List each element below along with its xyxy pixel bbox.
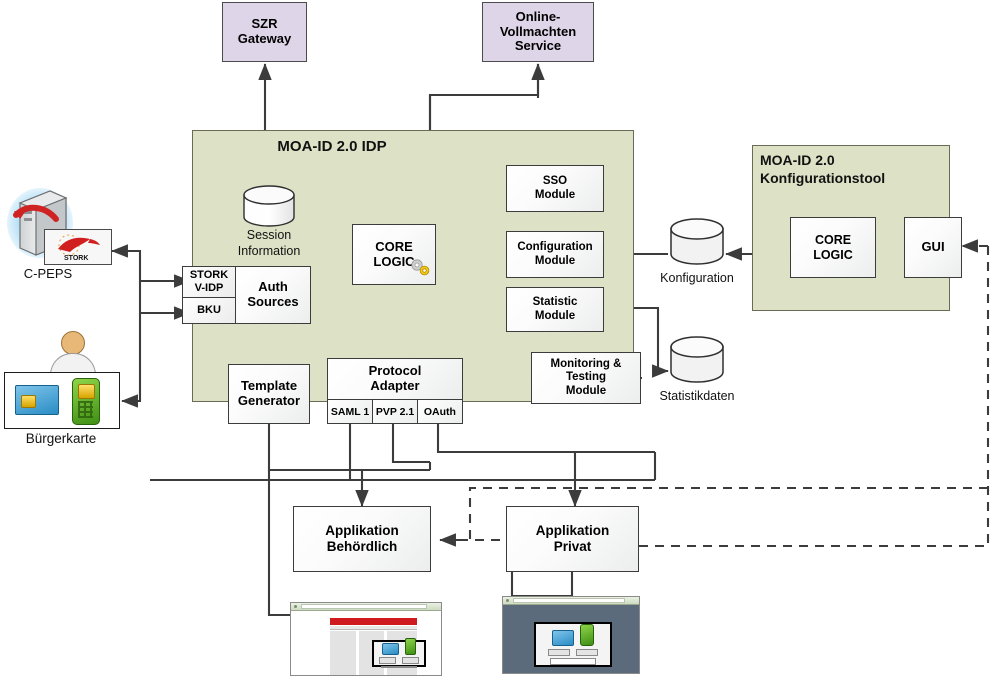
session-information-label: Session Information [209, 228, 329, 259]
page-navbar [330, 626, 417, 630]
module-monitoring-testing[interactable]: Monitoring & Testing Module [531, 352, 641, 404]
konfiguration-datastore-label: Konfiguration [640, 271, 754, 285]
smartcard-chip [21, 395, 36, 408]
dialog-checkbox-vertretung[interactable] [550, 658, 596, 665]
dialog-icon-row [552, 624, 594, 646]
smartcard-icon [382, 643, 399, 655]
vollmachten-label-line1: Online- [500, 10, 576, 25]
browser-url-bar[interactable] [513, 598, 625, 603]
mobile-phone-icon [72, 378, 100, 425]
monitoring-label-line1: Monitoring & [551, 358, 622, 371]
bku-selection-dialog[interactable] [372, 640, 426, 667]
phone-chip [78, 384, 95, 399]
browser-dot [294, 605, 297, 608]
application-privat[interactable]: Applikation Privat [506, 506, 639, 572]
gears-icon [409, 257, 431, 281]
app-behoerdlich-line2: Behördlich [325, 539, 399, 555]
vollmachten-label-line2: Vollmachten [500, 25, 576, 40]
smartcard-icon [552, 630, 574, 646]
database-cylinder-icon-session [241, 185, 297, 227]
module-statistic[interactable]: Statistic Module [506, 287, 604, 332]
browser-titlebar [503, 597, 639, 605]
app-privat-line2: Privat [536, 539, 610, 555]
statistic-label-line1: Statistic [533, 296, 578, 309]
template-generator-line1: Template [238, 379, 300, 394]
szr-gateway-label-line1: SZR [238, 17, 291, 32]
konfig-core-logic-line1: CORE [813, 233, 853, 247]
configuration-label-line2: Module [517, 255, 592, 268]
dialog-checkbox-row[interactable] [381, 666, 417, 668]
module-core-logic-idp[interactable]: CORE LOGIC [352, 224, 436, 285]
auth-source-stork-vidp[interactable]: STORK V-IDP [182, 266, 236, 298]
module-protocol-adapter[interactable]: Protocol Adapter [327, 358, 463, 400]
app-behoerdlich-line1: Applikation [325, 523, 399, 539]
statistic-label-line2: Module [533, 310, 578, 323]
bku-selection-dialog[interactable] [534, 622, 611, 667]
browser-window-screenshot-privat[interactable] [502, 596, 640, 674]
application-behoerdlich[interactable]: Applikation Behördlich [293, 506, 431, 572]
mobile-phone-icon [405, 638, 416, 655]
vollmachten-label-line3: Service [500, 39, 576, 54]
auth-sources-line2: Sources [247, 295, 298, 310]
app-privat-line1: Applikation [536, 523, 610, 539]
dialog-button-row[interactable] [548, 649, 598, 656]
protocol-adapter-cells: SAML 1 PVP 2.1 OAuth [327, 399, 463, 424]
sso-label-line1: SSO [535, 175, 575, 188]
protocol-cell-pvp21[interactable]: PVP 2.1 [372, 399, 418, 424]
monitoring-label-line2: Testing [551, 371, 622, 384]
browser-page-content [291, 611, 441, 676]
statistikdaten-datastore-label: Statistikdaten [634, 389, 760, 403]
bku-line1: BKU [197, 304, 221, 317]
page-col-left [330, 631, 356, 676]
page-header-banner [330, 618, 417, 624]
konfigtool-title-l2: Konfigurationstool [760, 169, 950, 187]
person-head [61, 331, 85, 355]
mobile-phone-icon [580, 624, 594, 646]
konfig-core-logic-line2: LOGIC [813, 248, 853, 262]
protocol-cell-saml1[interactable]: SAML 1 [327, 399, 373, 424]
dialog-handy-button[interactable] [576, 649, 598, 656]
stork-vidp-line2: V-IDP [190, 282, 228, 295]
szr-gateway-label-line2: Gateway [238, 32, 291, 47]
module-auth-sources[interactable]: Auth Sources [235, 266, 311, 324]
dialog-karte-button[interactable] [548, 649, 570, 656]
buergerkarte-label: Bürgerkarte [4, 431, 118, 446]
module-configuration[interactable]: Configuration Module [506, 231, 604, 278]
diagram-canvas: SZR Gateway Online- Vollmachten Service … [0, 0, 1000, 678]
smartcard-icon [15, 385, 59, 415]
svg-text:STORK: STORK [64, 255, 88, 262]
module-template-generator[interactable]: Template Generator [228, 364, 310, 424]
browser-page-content [503, 605, 639, 674]
region-konfigurationstool-title: MOA-ID 2.0 Konfigurationstool [760, 151, 950, 187]
module-sso[interactable]: SSO Module [506, 165, 604, 212]
database-cylinder-icon-konfiguration [668, 218, 726, 268]
gui-label: GUI [921, 240, 944, 255]
dialog-handy-button[interactable] [402, 657, 419, 664]
session-label-l2: Information [209, 244, 329, 260]
browser-url-bar[interactable] [301, 604, 427, 609]
module-gui[interactable]: GUI [904, 217, 962, 278]
protocol-cell-oauth[interactable]: OAuth [417, 399, 463, 424]
monitoring-label-line3: Module [551, 385, 622, 398]
sso-label-line2: Module [535, 189, 575, 202]
external-service-szr-gateway[interactable]: SZR Gateway [222, 2, 307, 62]
auth-source-bku[interactable]: BKU [182, 297, 236, 324]
stork-vidp-line1: STORK [190, 269, 228, 282]
browser-window-screenshot-behoerdlich[interactable] [290, 602, 442, 676]
cpeps-stork-badge: STORK [44, 229, 112, 265]
core-logic-label-line1: CORE [373, 240, 414, 255]
dialog-icon-row [382, 638, 416, 655]
konfigtool-title-l1: MOA-ID 2.0 [760, 151, 950, 169]
configuration-label-line1: Configuration [517, 241, 592, 254]
phone-keypad [78, 401, 93, 418]
session-label-l1: Session [209, 228, 329, 244]
external-service-online-vollmachten[interactable]: Online- Vollmachten Service [482, 2, 594, 62]
browser-dot [506, 599, 509, 602]
region-moa-id-idp-title: MOA-ID 2.0 IDP [192, 138, 472, 155]
template-generator-line2: Generator [238, 394, 300, 409]
module-core-logic-konfigurationstool[interactable]: CORE LOGIC [790, 217, 876, 278]
browser-titlebar [291, 603, 441, 611]
protocol-adapter-line1: Protocol [369, 364, 422, 379]
database-cylinder-icon-statistikdaten [668, 336, 726, 386]
protocol-adapter-line2: Adapter [369, 379, 422, 394]
auth-sources-line1: Auth [247, 280, 298, 295]
dialog-button-row[interactable] [379, 657, 419, 664]
cpeps-label: C-PEPS [2, 266, 94, 281]
dialog-karte-button[interactable] [379, 657, 396, 664]
